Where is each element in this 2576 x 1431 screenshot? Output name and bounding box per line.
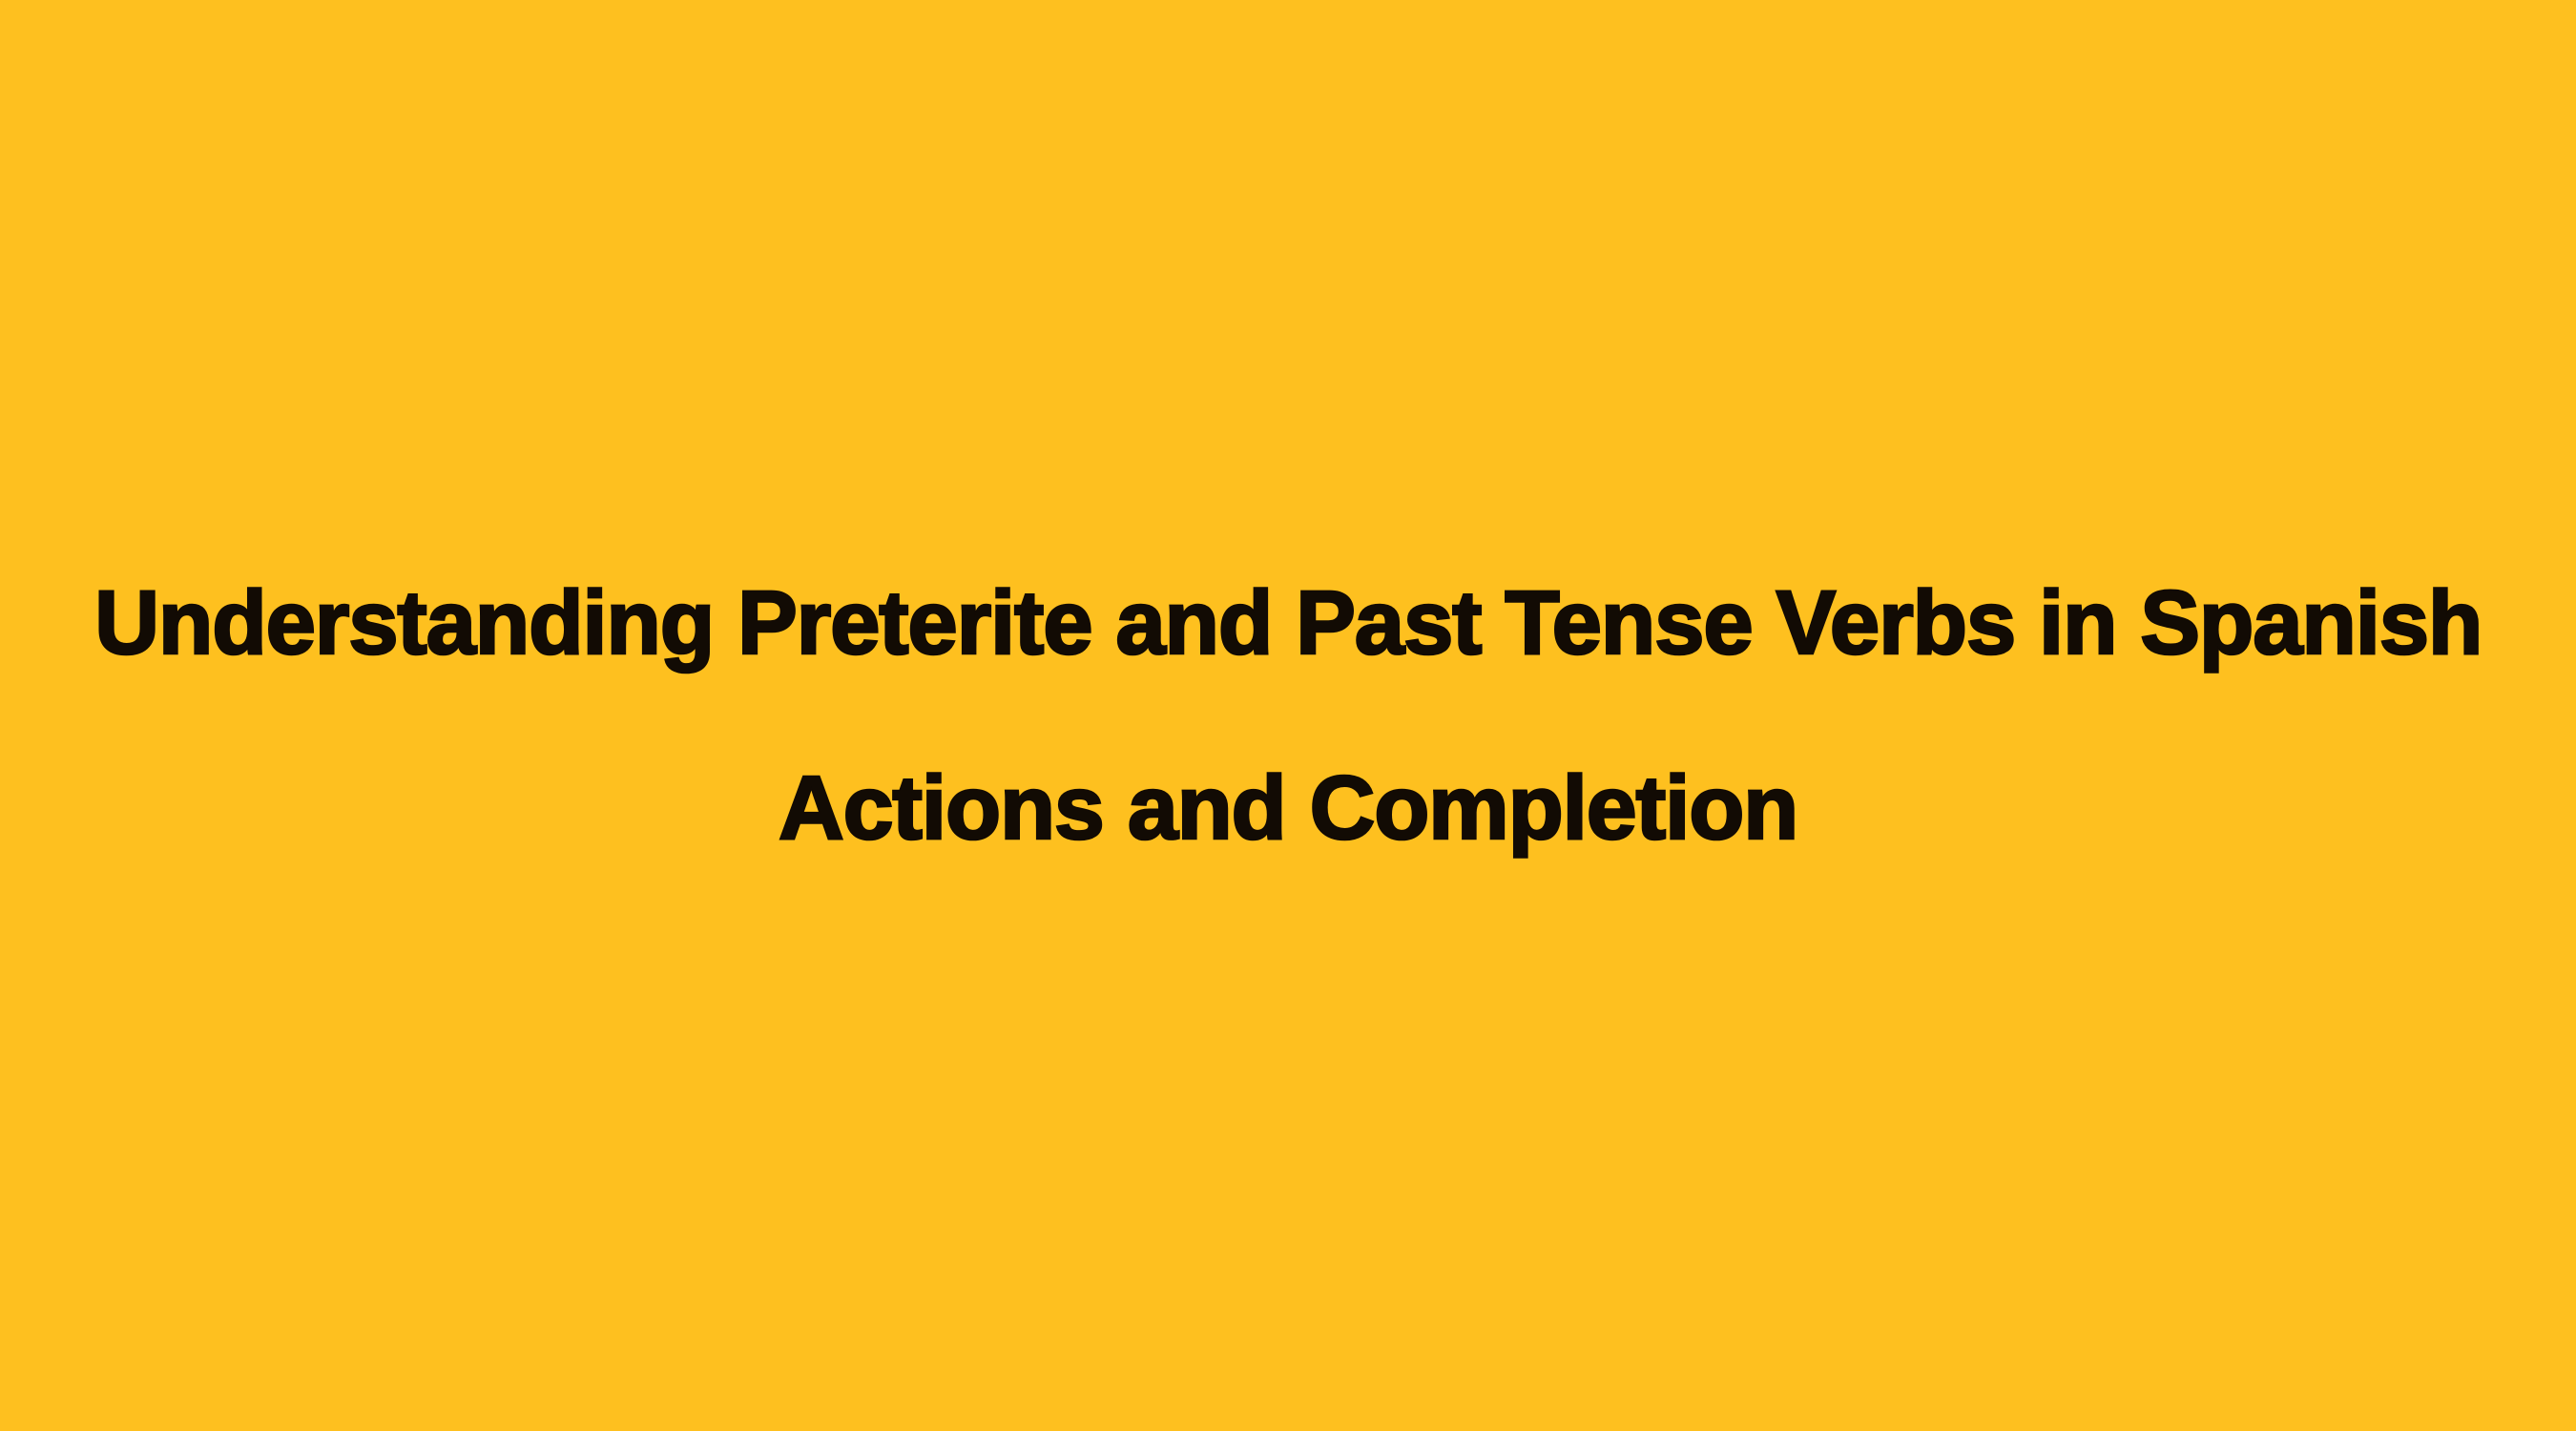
page-title: Understanding Preterite and Past Tense V…	[0, 530, 2576, 901]
page-title-line-1: Understanding Preterite and Past Tense V…	[94, 530, 2482, 715]
page-title-line-2: Actions and Completion	[779, 715, 1797, 901]
title-banner: Understanding Preterite and Past Tense V…	[0, 0, 2576, 1431]
